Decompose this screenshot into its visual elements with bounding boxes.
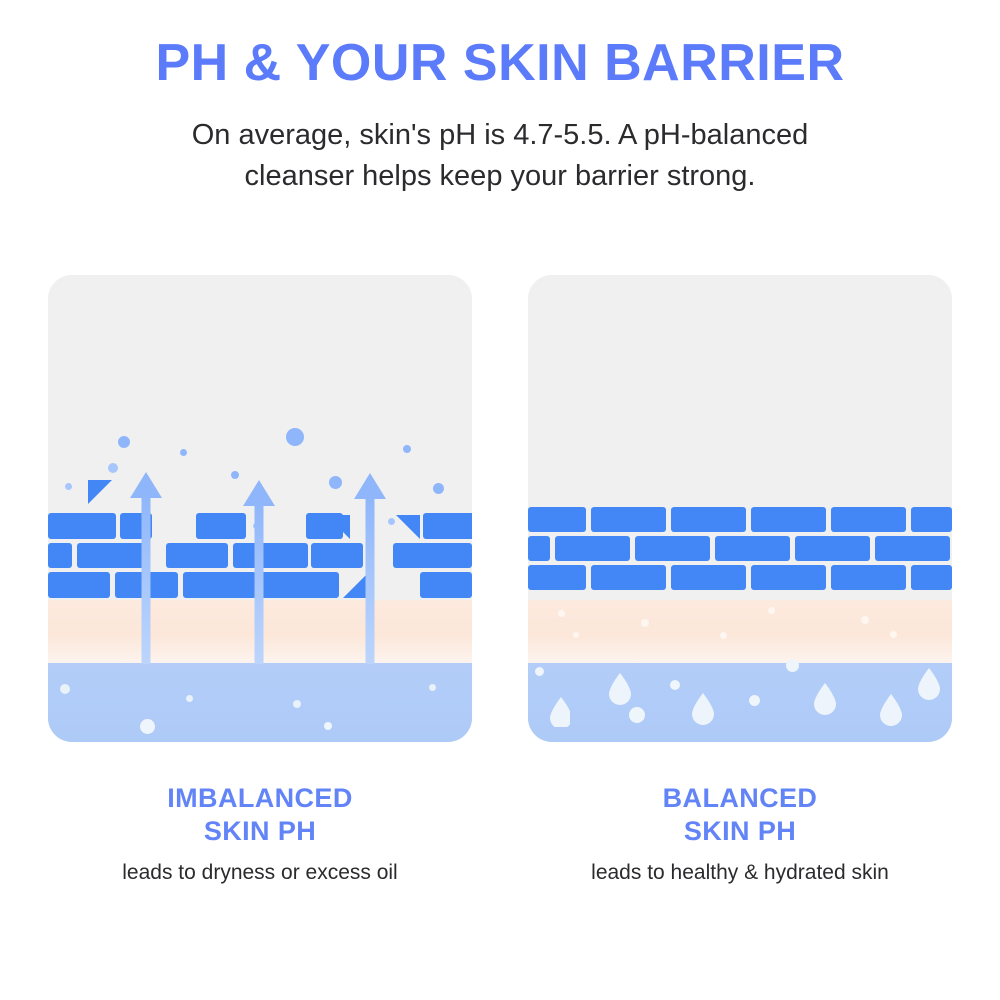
water-bubble — [670, 680, 680, 690]
hydration-speck — [293, 700, 301, 708]
hydration-speck — [641, 619, 649, 627]
brick — [528, 507, 586, 532]
brick — [591, 565, 666, 590]
brick — [671, 565, 746, 590]
brick — [671, 507, 746, 532]
brick — [831, 507, 906, 532]
subtitle-line-2: cleanser helps keep your barrier strong. — [100, 156, 900, 197]
brick — [751, 507, 826, 532]
hydration-speck — [324, 722, 332, 730]
moisture-particle — [329, 476, 342, 489]
caption-title-balanced: BALANCED SKIN PH — [528, 782, 952, 848]
caption-line-2: SKIN PH — [48, 815, 472, 848]
brick — [715, 536, 790, 561]
layer-hydration-left — [48, 663, 472, 742]
moisture-escape-arrow — [243, 480, 275, 664]
panel-balanced — [528, 275, 952, 742]
hydration-speck — [768, 607, 775, 614]
arrow-shaft — [255, 502, 264, 664]
brick-fragment — [88, 480, 112, 504]
brick — [48, 513, 116, 539]
brick — [591, 507, 666, 532]
moisture-particle — [108, 463, 118, 473]
brick — [48, 572, 110, 598]
brick — [166, 543, 228, 568]
caption-sub-imbalanced: leads to dryness or excess oil — [48, 861, 472, 885]
water-bubble — [629, 707, 645, 723]
brick — [911, 565, 952, 590]
hydration-speck — [60, 684, 70, 694]
page-title: PH & YOUR SKIN BARRIER — [0, 36, 1000, 91]
subtitle-line-1: On average, skin's pH is 4.7-5.5. A pH-b… — [100, 115, 900, 156]
hydration-speck — [573, 632, 579, 638]
arrow-shaft — [142, 494, 151, 664]
moisture-particle — [433, 483, 444, 494]
brick — [875, 536, 950, 561]
hydration-speck — [558, 610, 565, 617]
brick — [420, 572, 472, 598]
caption-balanced: BALANCED SKIN PH leads to healthy & hydr… — [528, 782, 952, 885]
panel-imbalanced — [48, 275, 472, 742]
water-bubble — [535, 667, 544, 676]
moisture-particle — [180, 449, 187, 456]
brick — [635, 536, 710, 561]
brick-fragment — [396, 515, 420, 539]
caption-line-1: IMBALANCED — [48, 782, 472, 815]
brick — [751, 565, 826, 590]
brick-fragment — [326, 515, 350, 539]
brick — [831, 565, 906, 590]
layer-dermis-right — [528, 600, 952, 663]
brick — [528, 565, 586, 590]
brick — [555, 536, 630, 561]
hydration-speck — [720, 632, 727, 639]
moisture-particle — [231, 471, 239, 479]
hydration-speck — [861, 616, 869, 624]
hydration-speck — [429, 684, 436, 691]
brick — [393, 543, 472, 568]
caption-line-1: BALANCED — [528, 782, 952, 815]
moisture-particle — [65, 483, 72, 490]
moisture-particle — [286, 428, 304, 446]
caption-imbalanced: IMBALANCED SKIN PH leads to dryness or e… — [48, 782, 472, 885]
water-bubble — [749, 695, 760, 706]
moisture-escape-arrow — [354, 473, 386, 664]
hydration-speck — [186, 695, 193, 702]
moisture-particle — [388, 518, 395, 525]
brick — [528, 536, 550, 561]
moisture-escape-arrow — [130, 472, 162, 664]
caption-title-imbalanced: IMBALANCED SKIN PH — [48, 782, 472, 848]
hydration-speck — [140, 719, 155, 734]
brick — [423, 513, 472, 539]
brick — [795, 536, 870, 561]
hydration-speck — [890, 631, 897, 638]
water-bubble — [786, 659, 799, 672]
infographic-canvas: PH & YOUR SKIN BARRIER On average, skin'… — [0, 0, 1000, 1000]
brick — [196, 513, 246, 539]
caption-sub-balanced: leads to healthy & hydrated skin — [528, 861, 952, 885]
moisture-particle — [403, 445, 411, 453]
caption-line-2: SKIN PH — [528, 815, 952, 848]
arrow-shaft — [366, 495, 375, 664]
page-subtitle: On average, skin's pH is 4.7-5.5. A pH-b… — [100, 115, 900, 197]
brick — [48, 543, 72, 568]
brick — [911, 507, 952, 532]
moisture-particle — [118, 436, 130, 448]
